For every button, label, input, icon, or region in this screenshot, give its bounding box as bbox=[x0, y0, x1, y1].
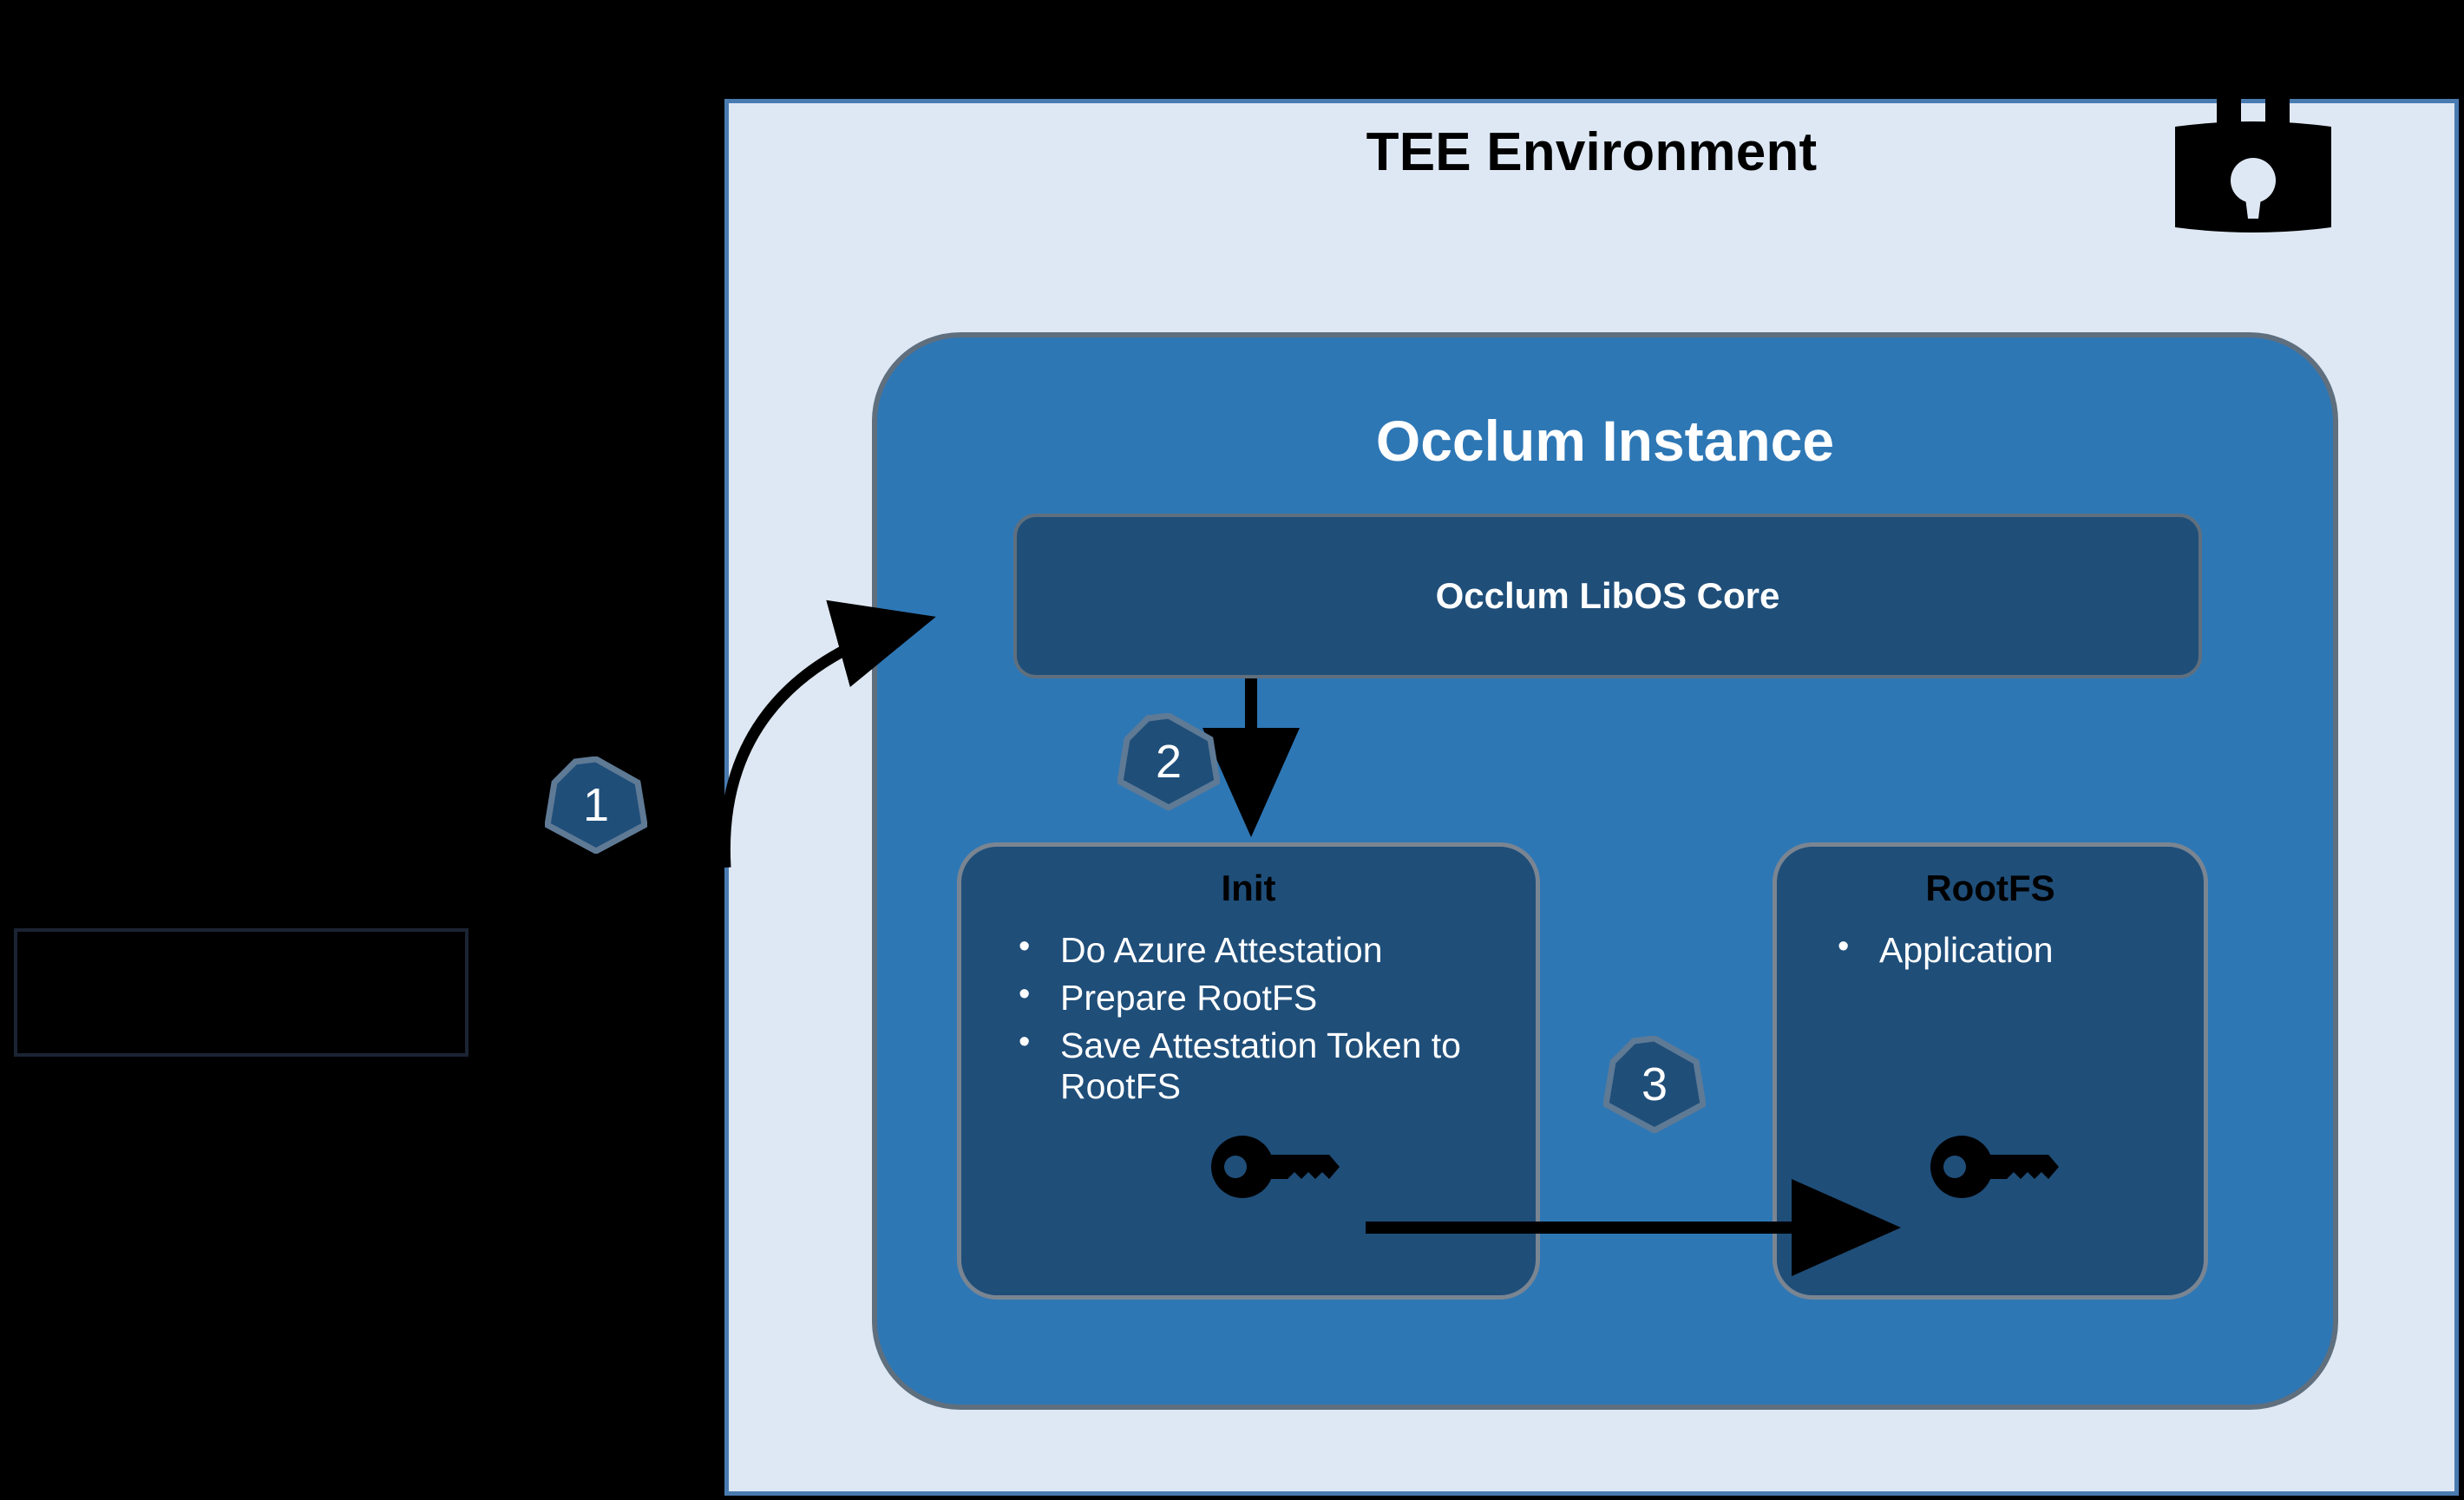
init-box: Init Do Azure Attestation Prepare RootFS… bbox=[957, 842, 1540, 1300]
list-item: Application bbox=[1829, 930, 2204, 971]
step-badge-3: 3 bbox=[1603, 1036, 1706, 1133]
key-icon bbox=[1211, 1134, 1350, 1200]
step-badge-1: 1 bbox=[545, 757, 647, 854]
init-bullet-list: Do Azure Attestation Prepare RootFS Save… bbox=[961, 930, 1536, 1115]
diagram-canvas: TEE Environment Occlum Instance Occlum L… bbox=[0, 0, 2464, 1500]
step-badge-label: 1 bbox=[545, 757, 647, 854]
list-item: Prepare RootFS bbox=[1010, 978, 1536, 1019]
rootfs-box: RootFS Application bbox=[1773, 842, 2208, 1300]
list-item: Do Azure Attestation bbox=[1010, 930, 1536, 971]
rootfs-title: RootFS bbox=[1777, 868, 2204, 909]
occlum-libos-core-box: Occlum LibOS Core bbox=[1013, 514, 2202, 678]
step-badge-2: 2 bbox=[1117, 713, 1220, 810]
occlum-libos-core-label: Occlum LibOS Core bbox=[1436, 575, 1780, 617]
step-badge-label: 3 bbox=[1603, 1036, 1706, 1133]
padlock-icon bbox=[2166, 52, 2340, 253]
empty-outline-rect bbox=[14, 928, 469, 1057]
key-icon bbox=[1930, 1134, 2069, 1200]
step-badge-label: 2 bbox=[1117, 713, 1220, 810]
init-title: Init bbox=[961, 868, 1536, 909]
list-item: Save Attestation Token to RootFS bbox=[1010, 1025, 1536, 1107]
rootfs-bullet-list: Application bbox=[1777, 930, 2204, 978]
occlum-instance-title: Occlum Instance bbox=[872, 408, 2338, 474]
